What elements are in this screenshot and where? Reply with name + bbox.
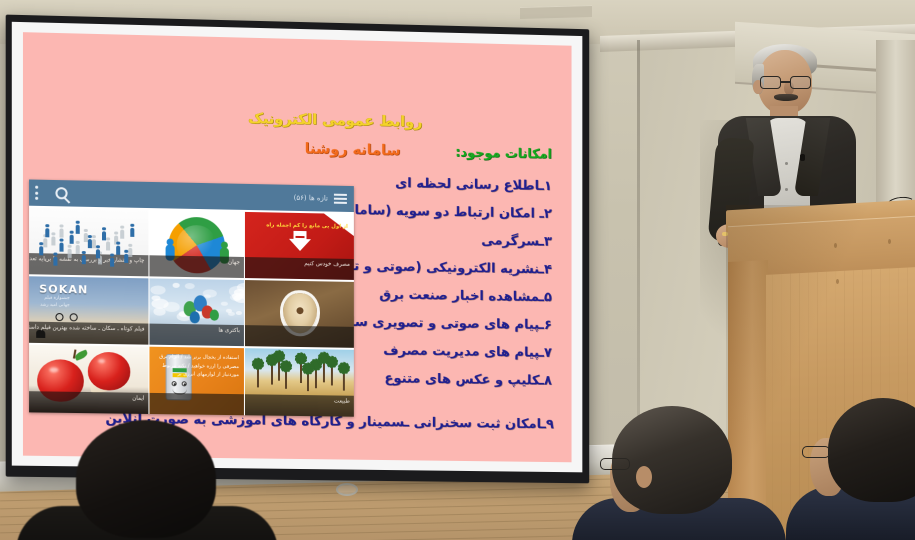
baseboard-cable-grommet [336, 483, 358, 496]
tile-overlay-text: استفاده از یخچال برتر بلند / الزام برق م… [149, 353, 238, 380]
tile-people-network[interactable]: چاپ و انتشار خبر و بررسی به نقشه را برپا… [29, 208, 148, 277]
audience-head [612, 406, 732, 514]
network-node [45, 228, 49, 237]
shirt-button-1 [785, 162, 788, 165]
tile-sokan-film[interactable]: SOKAN جشنواره فیلمجهانی امید رشد فیلم کو… [29, 276, 148, 344]
tile-red-apples[interactable]: ایمان [29, 345, 148, 414]
cloud-puff [233, 295, 241, 300]
audience-glasses [802, 446, 830, 458]
tile-balloons[interactable]: باکتری ها [149, 278, 243, 346]
network-node [76, 225, 80, 234]
sokan-subtitle: جشنواره فیلمجهانی امید رشد [40, 296, 69, 310]
feature-item-3: ۳ـسرگرمی [481, 233, 552, 249]
feature-item-1: ۱ـاطلاع رسانی لحظه ای [395, 176, 552, 194]
tile-caption: فیلم کوتاه ـ سکان ـ ساخته شده بهترین فیل… [29, 322, 148, 345]
presenter-glasses [760, 76, 812, 89]
fridge-eye-left [172, 381, 177, 386]
tile-caption: طبیعت [245, 394, 354, 416]
network-node [59, 243, 63, 252]
cloud-puff [153, 308, 165, 315]
tile-caption: جهان [149, 255, 243, 278]
tile-palm-desert[interactable]: طبیعت [245, 348, 354, 417]
presenter-mustache [774, 94, 798, 101]
tile-energy-saving[interactable]: از اول بی مانع را کم اجمله راه مصرف خودس… [245, 212, 354, 280]
glasses-bridge [781, 81, 790, 83]
cloud-puff [151, 286, 166, 295]
network-node [88, 239, 92, 248]
tile-row-1: چاپ و انتشار خبر و بررسی به نقشه را برپا… [29, 208, 354, 280]
projection-screen-frame: روابط عمومی الکترونیک سامانه روشنا امکان… [6, 15, 590, 484]
network-node-muted [51, 236, 55, 245]
network-node [82, 255, 86, 264]
tile-refrigerator-character[interactable]: استفاده از یخچال برتر بلند / الزام برق م… [149, 347, 243, 416]
network-node [124, 254, 128, 263]
cloud-puff [172, 283, 180, 288]
tile-caption: ایمان [29, 391, 148, 414]
network-node-muted [120, 230, 124, 239]
audience-member-right [800, 398, 915, 540]
slide-title-line1: روابط عمومی الکترونیک [248, 111, 422, 131]
tile-latte-coffee[interactable] [245, 280, 354, 348]
cloud-puff [185, 283, 195, 289]
audience-glasses [600, 458, 630, 470]
network-node [53, 257, 57, 266]
shirt-button-2 [785, 188, 788, 191]
lapel-microphone [800, 154, 805, 161]
network-node-muted [106, 241, 110, 250]
cloud-puff [203, 289, 217, 298]
mobile-app-screenshot: تازه ها (۵۶) چاپ و انتشار خبر و بررسی به… [29, 179, 354, 416]
glasses-lens-left [760, 76, 781, 89]
network-node [116, 246, 120, 255]
network-node-muted [59, 228, 63, 237]
app-toolbar-label: تازه ها (۵۶) [294, 194, 328, 203]
apple-leaf [74, 350, 89, 361]
motorbike-icon [55, 311, 77, 321]
app-toolbar: تازه ها (۵۶) [29, 179, 354, 212]
network-node [70, 235, 74, 244]
glasses-lens-right [790, 76, 811, 89]
network-node-muted [68, 249, 72, 258]
lecture-room-scene: روابط عمومی الکترونیک سامانه روشنا امکان… [0, 0, 915, 540]
audience-member-left [38, 420, 258, 540]
tile-puzzle-globe[interactable]: جهان [149, 210, 243, 278]
apple-highlight-2 [98, 359, 105, 363]
audience-member-center [578, 406, 778, 540]
projection-screen-surface: روابط عمومی الکترونیک سامانه روشنا امکان… [12, 22, 583, 473]
network-node-muted [76, 245, 80, 254]
down-arrow-head-icon [289, 239, 311, 251]
balloon [210, 310, 219, 321]
network-node [102, 231, 106, 240]
tile-overlay-text: از اول بی مانع را کم اجمله راه [266, 221, 348, 231]
feature-item-5: ۵ـمشاهده اخبار صنعت برق [379, 287, 552, 305]
hamburger-menu-icon[interactable] [334, 194, 347, 204]
arrow-bar [295, 236, 304, 238]
network-node [39, 246, 43, 255]
feature-item-6: ۶ـپیام های صوتی و تصویری سلامت [323, 314, 552, 333]
tile-row-2: SOKAN جشنواره فیلمجهانی امید رشد فیلم کو… [29, 276, 354, 348]
audience-head [76, 420, 216, 538]
fridge-eye-right [182, 381, 187, 386]
ceiling-vent [520, 5, 592, 19]
tile-caption: مصرف خودس کنیم [245, 257, 354, 280]
kebab-menu-icon[interactable] [35, 186, 38, 200]
features-heading: امکانات موجود: [455, 145, 552, 162]
apple-highlight [49, 367, 58, 372]
slide-title-line2: سامانه روشنا [305, 141, 401, 159]
audience-head [828, 398, 915, 502]
tile-caption [149, 393, 243, 415]
network-node [130, 228, 134, 237]
network-node-muted [128, 248, 132, 257]
cloud-puff [152, 298, 169, 308]
cloud-puff [221, 302, 227, 306]
tile-row-3: ایمان استفاده از یخچال برتر بلند / الزام… [29, 345, 354, 417]
cloud-puff [236, 311, 242, 315]
network-node [110, 258, 114, 267]
network-node [96, 249, 100, 258]
presentation-slide: روابط عمومی الکترونیک سامانه روشنا امکان… [23, 32, 572, 462]
balloon [190, 311, 200, 323]
feature-item-7: ۷ـپیام های مدیریت مصرف [383, 343, 552, 361]
network-node-muted [43, 238, 47, 247]
audience-ear [636, 466, 652, 488]
feature-item-8: ۸ـکلیپ و عکس های متنوع [384, 371, 551, 388]
tile-caption [245, 325, 354, 348]
tile-caption: باکتری ها [149, 324, 243, 347]
sokan-brand: SOKAN [39, 282, 88, 296]
search-icon[interactable] [55, 187, 67, 199]
apple-back [88, 352, 130, 391]
